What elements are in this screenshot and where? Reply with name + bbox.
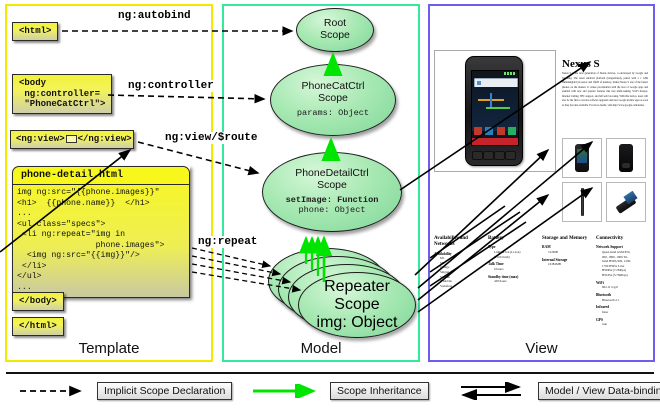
diagram-canvas: Template Model View <html> <body ng:cont…: [0, 0, 660, 420]
spec-value: false: [602, 310, 648, 315]
thumbnail-phone-back[interactable]: [606, 138, 646, 178]
scope-phonedetailctrl: PhoneDetailCtrlScope setImage: Function …: [262, 152, 402, 232]
panel-template-label: Template: [7, 340, 211, 357]
spec-heading: Storage and Memory: [542, 236, 594, 242]
scope-repeater: RepeaterScope img: Object: [298, 272, 416, 338]
legend-item-scope-inheritance: Scope Inheritance: [251, 382, 429, 400]
phone-bottom-bar: [472, 138, 518, 145]
legend-item-data-binding: Model / View Data-binding: [459, 382, 660, 400]
spec-value: (1500 mAh): [494, 255, 536, 260]
spec-value: 16384MB: [548, 262, 594, 267]
phone-status-bar: [472, 71, 518, 76]
view-rendered-page: Nexus S Nexus S is the next generation o…: [434, 14, 648, 336]
wire-label-ng-view-route: ng:view/$route: [163, 132, 259, 144]
spec-column-connectivity: Connectivity Network Support Quad-band G…: [596, 236, 648, 327]
legend-label: Scope Inheritance: [330, 382, 429, 400]
code-box-html-open: <html>: [12, 22, 58, 41]
code-box-ng-view: <ng:view></ng:view>: [10, 130, 134, 149]
thumbnail-phone-side[interactable]: [562, 182, 602, 222]
product-title: Nexus S: [562, 58, 600, 70]
scope-phonecatctrl: PhoneCatCtrlScope params: Object: [270, 64, 396, 136]
spec-heading: Availability and Networks: [434, 236, 482, 249]
spec-heading: Battery: [488, 236, 536, 242]
scope-repeater-props: img: Object: [317, 314, 398, 332]
product-description: Nexus S is the next generation of Nexus …: [562, 72, 648, 108]
thumbnail-phone-front[interactable]: [562, 138, 602, 178]
spec-value: 802.11 b/g/n: [602, 285, 648, 290]
code-box-body-open: <body ng:controller= "PhoneCatCtrl">: [12, 74, 112, 114]
ng-view-close-tag: </ng:view>: [78, 134, 132, 144]
product-specs-table: Availability and Networks Availability M…: [434, 236, 648, 326]
spec-heading: Connectivity: [596, 236, 648, 242]
wire-label-ng-autobind: ng:autobind: [116, 10, 193, 22]
phone-screen: [471, 70, 519, 146]
note-code: img ng:src="{{phone.images}}" <h1> {{pho…: [12, 184, 190, 298]
code-box-html-close: </html>: [12, 317, 64, 336]
wire-label-ng-controller: ng:controller: [126, 80, 216, 92]
scope-phonedetailctrl-props: setImage: Function phone: Object: [286, 195, 379, 216]
legend-label: Model / View Data-binding: [538, 382, 660, 400]
spec-value: Bluetooth 2.1: [602, 298, 648, 303]
ng-view-placeholder-icon: [66, 135, 77, 143]
template-note-phone-detail: phone-detail.html img ng:src="{{phone.im…: [12, 166, 190, 298]
scope-root: RootScope: [296, 8, 374, 52]
panel-view-label: View: [430, 340, 653, 357]
spec-value: HSUPA (5.76Mbps): [602, 273, 648, 278]
legend-item-implicit-scope: Implicit Scope Declaration: [18, 382, 232, 400]
phone-app-icons: [472, 125, 518, 137]
legend: Implicit Scope Declaration Scope Inherit…: [6, 382, 654, 410]
spec-value: 512MB: [548, 250, 594, 255]
phone-hardware-buttons: [472, 150, 516, 161]
spec-column-availability: Availability and Networks Availability M…: [434, 236, 482, 289]
green-arrow-icon: [251, 384, 323, 398]
thumbnail-phone-angled[interactable]: [606, 182, 646, 222]
scope-repeater-stack: RepeaterScope img: Object: [268, 240, 418, 348]
phone-device-illustration: [465, 56, 523, 166]
note-filename: phone-detail.html: [12, 166, 190, 184]
spec-value: Vodafone: [440, 284, 482, 289]
spec-value: 6 hours: [494, 267, 536, 272]
phone-hero-image-frame: [434, 50, 556, 172]
spec-column-storage: Storage and Memory RAM 512MB Internal St…: [542, 236, 594, 267]
scope-repeater-name: RepeaterScope: [324, 278, 390, 314]
legend-label: Implicit Scope Declaration: [97, 382, 232, 400]
scope-root-name: RootScope: [320, 18, 350, 42]
code-box-body-close: </body>: [12, 292, 64, 311]
spec-value: true: [602, 322, 648, 327]
spec-value: 428 hours: [494, 279, 536, 284]
scope-phonecatctrl-props: params: Object: [297, 108, 369, 119]
scope-phonecatctrl-name: PhoneCatCtrlScope: [301, 81, 364, 105]
scope-phonedetailctrl-name: PhoneDetailCtrlScope: [295, 168, 369, 192]
dashed-arrow-icon: [18, 384, 90, 398]
ng-view-open-tag: <ng:view>: [16, 134, 65, 144]
double-arrow-icon: [459, 382, 531, 400]
spec-column-battery: Battery Type Lithium Ion (Li-Ion) (1500 …: [488, 236, 536, 284]
legend-divider: [6, 372, 654, 374]
wire-label-ng-repeat: ng:repeat: [196, 236, 259, 248]
